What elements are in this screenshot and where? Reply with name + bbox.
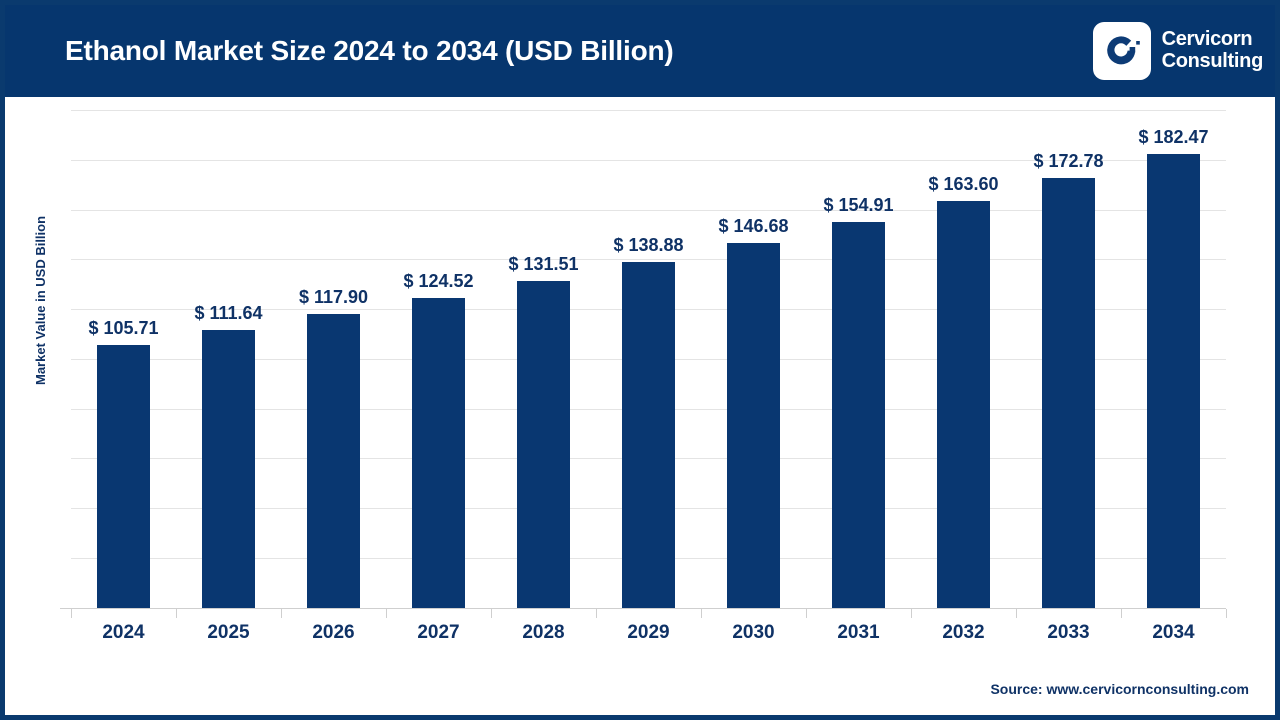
x-axis-label: 2034 [1152, 622, 1194, 644]
bar-group: $ 182.472034 [1121, 110, 1226, 608]
x-axis-tick [806, 609, 807, 618]
bar-value-label: $ 111.64 [194, 303, 262, 324]
brand-name-line2: Consulting [1162, 51, 1263, 73]
bar[interactable] [97, 345, 150, 608]
bar-value-label: $ 124.52 [403, 271, 473, 292]
bar[interactable] [1147, 154, 1200, 608]
bar[interactable] [937, 201, 990, 608]
y-axis-title: Market Value in USD Billion [33, 216, 48, 385]
x-axis-tick [1016, 609, 1017, 618]
plot-area: $ 105.712024$ 111.642025$ 117.902026$ 12… [71, 110, 1226, 608]
x-axis-line [60, 608, 1226, 609]
bar-value-label: $ 163.60 [928, 174, 998, 195]
bar[interactable] [622, 262, 675, 608]
bar-group: $ 172.782033 [1016, 110, 1121, 608]
x-axis-tick [911, 609, 912, 618]
x-axis-label: 2031 [837, 622, 879, 644]
chart-figure: Ethanol Market Size 2024 to 2034 (USD Bi… [0, 0, 1280, 720]
x-axis-tick [176, 609, 177, 618]
bar-group: $ 117.902026 [281, 110, 386, 608]
x-axis-tick [1226, 609, 1227, 618]
header-band: Ethanol Market Size 2024 to 2034 (USD Bi… [5, 5, 1280, 97]
bar[interactable] [727, 243, 780, 608]
source-note: Source: www.cervicornconsulting.com [990, 681, 1249, 697]
x-axis-label: 2029 [627, 622, 669, 644]
bar[interactable] [517, 281, 570, 608]
bar-value-label: $ 117.90 [299, 287, 368, 308]
bar[interactable] [202, 330, 255, 608]
brand-name-line1: Cervicorn [1162, 29, 1263, 51]
x-axis-tick [596, 609, 597, 618]
cervicorn-c-mark-icon [1093, 22, 1151, 80]
bar-value-label: $ 154.91 [823, 195, 893, 216]
bar-group: $ 138.882029 [596, 110, 701, 608]
bar-group: $ 124.522027 [386, 110, 491, 608]
x-axis-label: 2032 [942, 622, 984, 644]
x-axis-tick [71, 609, 72, 618]
bar-group: $ 111.642025 [176, 110, 281, 608]
x-axis-tick [1121, 609, 1122, 618]
x-axis-label: 2025 [207, 622, 249, 644]
bar[interactable] [1042, 178, 1095, 608]
x-axis-tick [491, 609, 492, 618]
bar-group: $ 154.912031 [806, 110, 911, 608]
bar-value-label: $ 138.88 [613, 235, 683, 256]
bar-group: $ 146.682030 [701, 110, 806, 608]
bar-value-label: $ 146.68 [718, 216, 788, 237]
bar-group: $ 131.512028 [491, 110, 596, 608]
x-axis-tick [386, 609, 387, 618]
x-axis-tick [281, 609, 282, 618]
bar-group: $ 105.712024 [71, 110, 176, 608]
brand-name: Cervicorn Consulting [1162, 29, 1263, 72]
x-axis-label: 2024 [102, 622, 144, 644]
brand-logo: Cervicorn Consulting [1093, 22, 1263, 80]
bar[interactable] [412, 298, 465, 608]
x-axis-label: 2033 [1047, 622, 1089, 644]
x-axis-label: 2027 [417, 622, 459, 644]
x-axis-label: 2026 [312, 622, 354, 644]
bar-value-label: $ 105.71 [88, 318, 158, 339]
page-title: Ethanol Market Size 2024 to 2034 (USD Bi… [65, 35, 674, 67]
bar[interactable] [832, 222, 885, 608]
bar-value-label: $ 131.51 [508, 254, 578, 275]
bar[interactable] [307, 314, 360, 608]
x-axis-tick [701, 609, 702, 618]
x-axis-label: 2030 [732, 622, 774, 644]
bar-group: $ 163.602032 [911, 110, 1016, 608]
x-axis-label: 2028 [522, 622, 564, 644]
bar-value-label: $ 182.47 [1138, 127, 1208, 148]
bar-value-label: $ 172.78 [1033, 151, 1103, 172]
